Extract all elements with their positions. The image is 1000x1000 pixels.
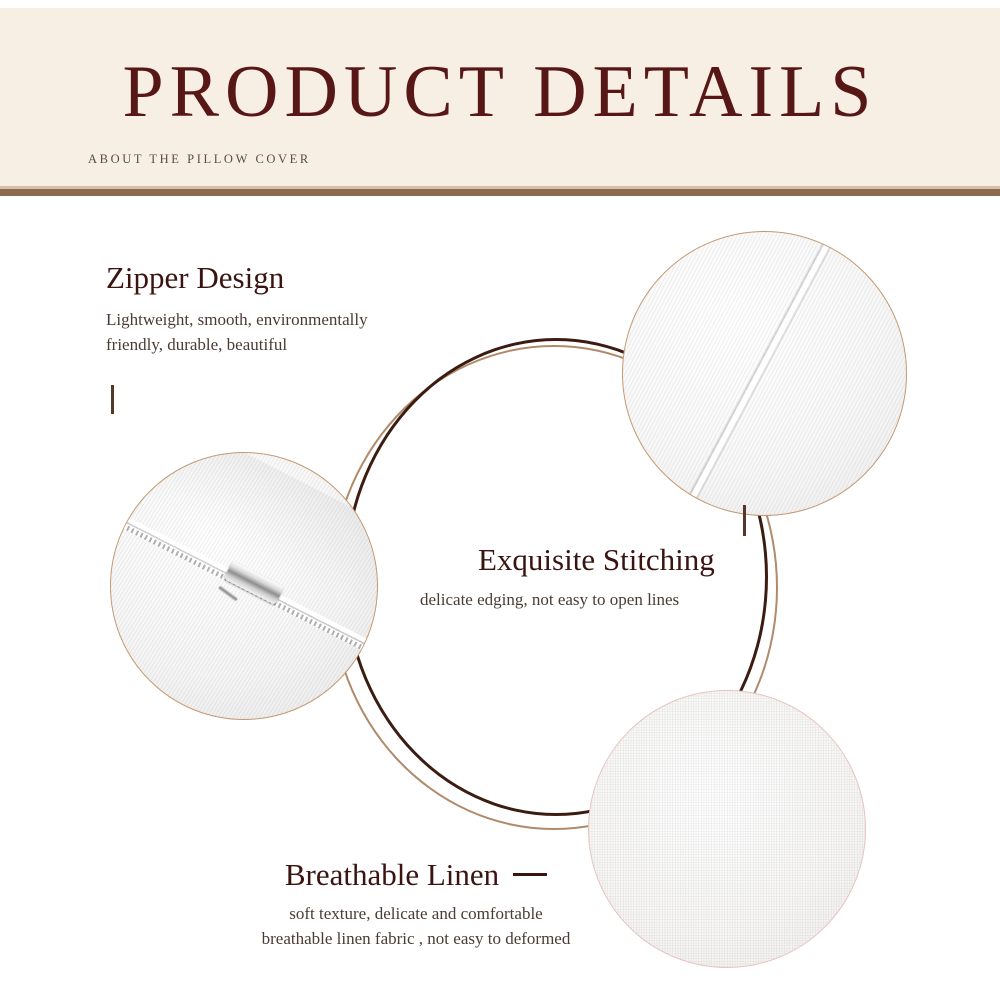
header-divider-dark [0,189,1000,196]
page-subtitle: ABOUT THE PILLOW COVER [88,152,311,167]
product-details-infographic: PRODUCT DETAILS ABOUT THE PILLOW COVER Z… [0,0,1000,1000]
page-title: PRODUCT DETAILS [0,50,1000,134]
feature-body-zipper: Lightweight, smooth, environmentally fri… [106,307,368,357]
stitching-accent-tick [743,505,746,536]
feature-title-linen: Breathable Linen [285,857,499,892]
feature-block-stitching: Exquisite Stitching delicate edging, not… [478,540,715,612]
feature-body-stitching-line1: delicate edging, not easy to open lines [420,587,715,612]
feature-body-linen-line2: breathable linen fabric , not easy to de… [186,926,646,951]
em-dash-connector [513,873,547,876]
seam-stitching-closeup-photo [622,231,907,516]
feature-body-stitching: delicate edging, not easy to open lines [420,587,715,612]
feature-body-linen: soft texture, delicate and comfortable b… [186,901,646,951]
feature-body-zipper-line2: friendly, durable, beautiful [106,332,368,357]
feature-title-stitching: Exquisite Stitching [478,540,715,580]
feature-title-linen-row: Breathable Linen [186,855,646,895]
fabric-fold-shadow [110,452,378,675]
feature-body-linen-line1: soft texture, delicate and comfortable [186,901,646,926]
feature-body-zipper-line1: Lightweight, smooth, environmentally [106,307,368,332]
feature-title-zipper: Zipper Design [106,258,368,298]
zipper-accent-tick [111,385,114,414]
zipper-closeup-photo [110,452,378,720]
feature-block-linen: Breathable Linen soft texture, delicate … [186,855,646,951]
feature-block-zipper: Zipper Design Lightweight, smooth, envir… [106,258,368,357]
